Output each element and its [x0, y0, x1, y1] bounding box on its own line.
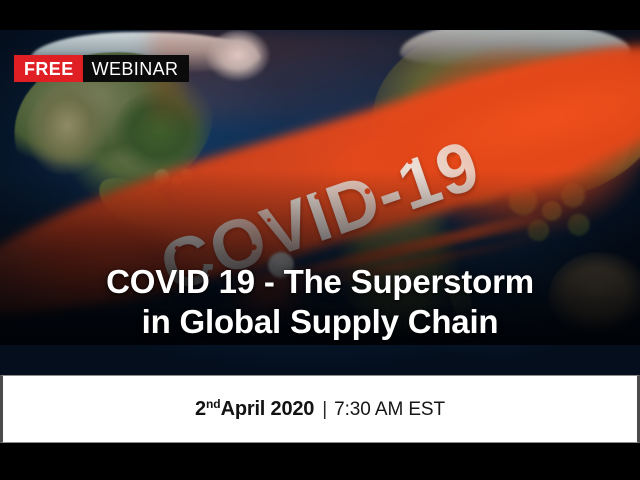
event-date-separator: |	[322, 399, 327, 421]
event-date-month-year: April 2020	[221, 398, 315, 421]
event-date-ordinal-suffix: nd	[206, 397, 221, 411]
landmass-southeast-asia	[500, 180, 596, 250]
page-title-line-2: in Global Supply Chain	[0, 302, 640, 342]
landmass-siberia-snow	[400, 30, 630, 68]
badge-webinar-label: WEBINAR	[83, 55, 190, 82]
webinar-promo-slide: COVID-19 FREE WEBINAR COVID 19 - The Sup…	[0, 0, 640, 480]
event-date-bar: 2nd April 2020 | 7:30 AM EST	[0, 375, 640, 443]
event-date-day-number: 2	[195, 398, 206, 421]
event-time: 7:30 AM EST	[334, 399, 445, 421]
free-webinar-badge: FREE WEBINAR	[14, 55, 189, 82]
landmass-sahara	[330, 142, 462, 204]
page-title-line-1: COVID 19 - The Superstorm	[0, 262, 640, 302]
letterbox-bar-bottom	[0, 443, 640, 480]
page-title: COVID 19 - The Superstorm in Global Supp…	[0, 262, 640, 343]
event-date-text: 2nd April 2020 | 7:30 AM EST	[195, 398, 445, 421]
landmass-north-america-east	[112, 90, 206, 176]
letterbox-bar-top	[0, 0, 640, 30]
landmass-caribbean-islands	[148, 166, 194, 192]
landmass-greenland	[206, 30, 272, 84]
badge-free-label: FREE	[14, 55, 83, 82]
